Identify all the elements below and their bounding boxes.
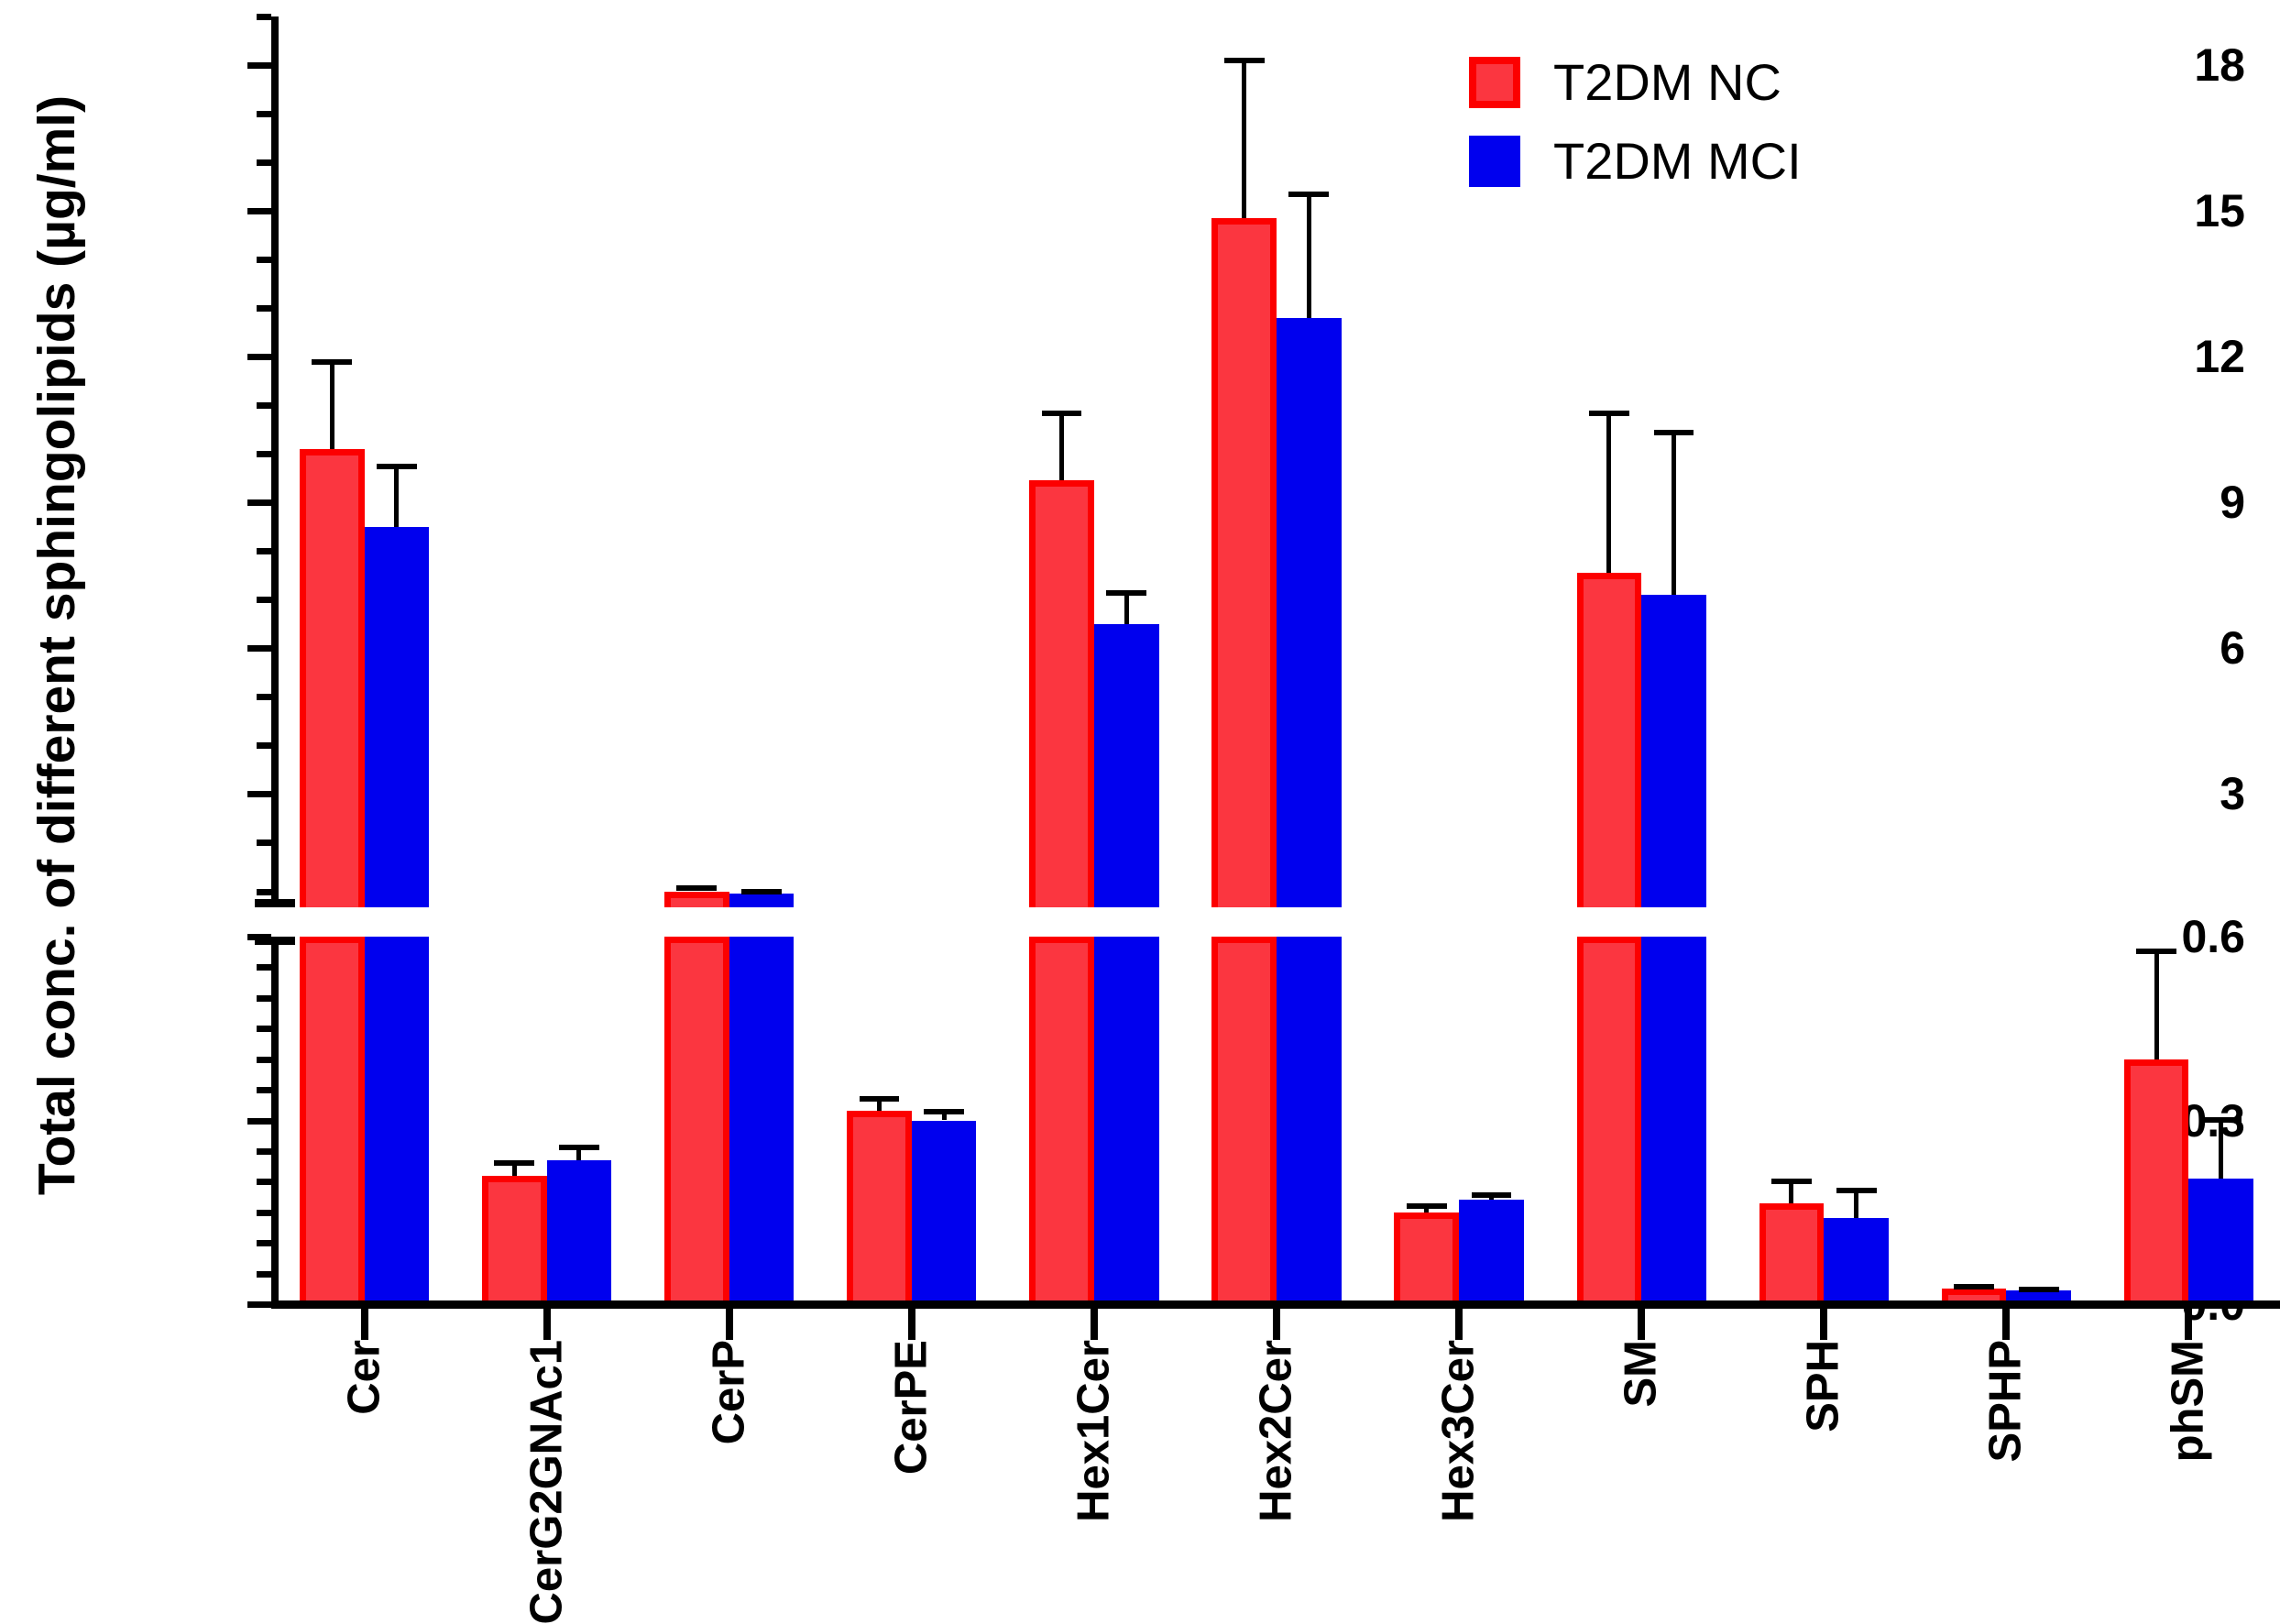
error-bar-stem: [1606, 411, 1611, 574]
error-bar-stem: [394, 464, 399, 527]
legend-swatch-red-square: [1469, 57, 1520, 108]
y-minor-tick: [257, 1087, 271, 1093]
bar-hex1cer-t2dm-nc[interactable]: [1029, 937, 1094, 1304]
error-bar-stem: [1242, 58, 1246, 218]
lower-axis-panel: 0.00.30.6: [271, 937, 2278, 1304]
bar-group-cer: [300, 937, 365, 1304]
error-bar-cap: [676, 885, 717, 891]
x-tick: [1638, 1309, 1645, 1340]
y-minor-tick: [257, 742, 271, 749]
y-minor-tick: [257, 1179, 271, 1185]
bar-hex1cer-t2dm-mci[interactable]: [1094, 624, 1159, 907]
bar-sm-t2dm-mci[interactable]: [1641, 937, 1706, 1304]
y-minor-tick: [257, 548, 271, 554]
bar-cerpe-t2dm-mci[interactable]: [912, 1121, 977, 1305]
x-axis-label-phsm: phSM: [2166, 1340, 2211, 1462]
bar-group-sm: [1577, 937, 1642, 1304]
bar-cerp-t2dm-mci[interactable]: [729, 937, 795, 1304]
bar-group-hex2cer: [1277, 937, 1342, 1304]
upper-y-axis-spine: [271, 16, 279, 907]
y-tick-label: 18: [2194, 42, 2245, 88]
bar-cerp-t2dm-mci[interactable]: [729, 894, 795, 907]
y-tick-label: 15: [2194, 188, 2245, 234]
y-minor-tick: [257, 1271, 271, 1278]
error-bar-cap: [312, 359, 352, 365]
error-bar-stem: [2219, 1117, 2223, 1179]
bar-group-hex1cer: [1094, 937, 1159, 1304]
y-minor-tick: [257, 1240, 271, 1246]
y-minor-tick: [257, 694, 271, 700]
bar-phsm-t2dm-nc[interactable]: [2124, 1059, 2189, 1304]
error-bar-cap: [924, 1109, 964, 1114]
axis-break-cap-upper: [255, 899, 295, 907]
error-bar-cap: [1106, 590, 1146, 596]
error-bar-cap: [1288, 192, 1329, 197]
upper-axis-panel: 369121518: [271, 16, 2278, 907]
error-bar-cap: [860, 1096, 900, 1102]
bar-group-hex3cer: [1394, 937, 1459, 1304]
y-tick-label: 12: [2194, 334, 2245, 379]
y-tick-label: 9: [2220, 479, 2245, 525]
y-minor-tick: [257, 451, 271, 457]
axis-break-cap-lower: [255, 937, 295, 945]
y-tick-label: 3: [2220, 771, 2245, 817]
bar-group-cer: [365, 937, 430, 1304]
y-axis-title: Total conc. of different sphingolipids (…: [27, 49, 86, 1241]
error-bar-cap: [1407, 1203, 1447, 1209]
legend-item-t2dm-mci[interactable]: T2DM MCI: [1469, 136, 1802, 187]
legend: T2DM NC T2DM MCI: [1469, 57, 1802, 214]
x-axis-spine: [271, 1300, 2280, 1309]
x-tick: [908, 1309, 915, 1340]
bar-group-cerp: [729, 937, 795, 1304]
bar-cer-t2dm-mci[interactable]: [365, 527, 430, 907]
bar-group-sph: [1824, 937, 1889, 1304]
y-minor-tick: [257, 995, 271, 1002]
y-minor-tick: [257, 159, 271, 166]
bar-group-cerg2gnac1: [482, 937, 547, 1304]
x-tick: [1091, 1309, 1098, 1340]
error-bar-cap: [741, 889, 782, 894]
bar-phsm-t2dm-mci[interactable]: [2188, 1179, 2253, 1304]
bar-hex3cer-t2dm-nc[interactable]: [1394, 1213, 1459, 1304]
bar-sph-t2dm-mci[interactable]: [1824, 1218, 1889, 1304]
y-minor-tick: [257, 597, 271, 603]
y-major-tick: [247, 645, 271, 652]
error-bar-stem: [330, 359, 334, 449]
bar-group-cerpe: [912, 937, 977, 1304]
x-axis-label-cerpe: CerPE: [889, 1340, 934, 1475]
bar-hex2cer-t2dm-nc[interactable]: [1211, 937, 1277, 1304]
y-major-tick: [247, 499, 271, 506]
bar-group-sphp: [1942, 937, 2007, 1304]
error-bar-stem: [2154, 949, 2159, 1059]
y-minor-tick: [257, 305, 271, 312]
y-minor-tick: [257, 889, 271, 895]
bar-group-cerp: [729, 16, 795, 907]
error-bar-cap: [2019, 1287, 2059, 1292]
x-axis-label-sphp: SPHP: [1984, 1340, 2029, 1462]
x-tick: [543, 1309, 551, 1340]
bar-hex1cer-t2dm-nc[interactable]: [1029, 480, 1094, 907]
legend-label: T2DM NC: [1553, 57, 1781, 108]
bar-cerp-t2dm-nc[interactable]: [664, 892, 729, 907]
bar-hex2cer-t2dm-nc[interactable]: [1211, 218, 1277, 907]
x-tick: [1820, 1309, 1827, 1340]
x-axis-label-hex2cer: Hex2Cer: [1255, 1340, 1299, 1522]
bar-group-phsm: [2124, 937, 2189, 1304]
y-minor-tick: [257, 1026, 271, 1032]
bar-group-cerp: [664, 16, 729, 907]
bar-group-hex1cer: [1094, 16, 1159, 907]
bar-group-hex1cer: [1029, 937, 1094, 1304]
bar-hex2cer-t2dm-mci[interactable]: [1277, 318, 1342, 907]
bar-group-sm: [1641, 937, 1706, 1304]
y-minor-tick: [257, 14, 271, 20]
x-tick: [2185, 1309, 2192, 1340]
legend-item-t2dm-nc[interactable]: T2DM NC: [1469, 57, 1802, 108]
bar-group-cerp: [664, 937, 729, 1304]
y-minor-tick: [257, 1210, 271, 1216]
bar-group-cer: [365, 16, 430, 907]
bar-cer-t2dm-nc[interactable]: [300, 449, 365, 907]
bar-group-phsm: [2188, 937, 2253, 1304]
y-major-tick: [247, 208, 271, 214]
x-tick: [2002, 1309, 2010, 1340]
legend-label: T2DM MCI: [1553, 136, 1802, 187]
y-minor-tick: [257, 964, 271, 971]
bar-group-hex2cer: [1211, 16, 1277, 907]
y-minor-tick: [257, 257, 271, 263]
error-bar-stem: [1672, 430, 1676, 595]
error-bar-cap: [1042, 411, 1082, 416]
y-minor-tick: [257, 402, 271, 409]
bar-cerpe-t2dm-nc[interactable]: [847, 1111, 912, 1304]
error-bar-stem: [1059, 411, 1064, 481]
error-bar-cap: [2136, 949, 2176, 954]
bar-group-cerpe: [847, 937, 912, 1304]
error-bar-cap: [1472, 1192, 1512, 1198]
legend-swatch-blue-square: [1469, 136, 1520, 187]
y-major-tick: [247, 1301, 271, 1308]
x-axis-label-sm: SM: [1619, 1340, 1664, 1408]
bar-sph-t2dm-nc[interactable]: [1759, 1203, 1825, 1304]
y-minor-tick: [257, 839, 271, 846]
bar-group-hex2cer: [1211, 937, 1277, 1304]
bar-group-hex1cer: [1029, 16, 1094, 907]
bar-group-sph: [1759, 937, 1825, 1304]
y-minor-tick: [257, 1148, 271, 1155]
x-axis-label-hex1cer: Hex1Cer: [1071, 1340, 1116, 1522]
x-tick: [1273, 1309, 1280, 1340]
y-major-tick: [247, 62, 271, 69]
x-axis-label-hex3cer: Hex3Cer: [1437, 1340, 1482, 1522]
x-tick: [726, 1309, 733, 1340]
y-major-tick: [247, 791, 271, 797]
error-bar-cap: [377, 464, 417, 469]
y-tick-label: 6: [2220, 625, 2245, 671]
x-axis-label-cerp: CerP: [707, 1340, 751, 1444]
y-minor-tick: [257, 1057, 271, 1063]
x-tick: [1455, 1309, 1463, 1340]
bar-group-sphp: [2006, 937, 2071, 1304]
error-bar-cap: [1771, 1179, 1812, 1184]
bar-cerg2gnac1-t2dm-nc[interactable]: [482, 1176, 547, 1304]
error-bar-cap: [1654, 430, 1694, 435]
bar-hex3cer-t2dm-mci[interactable]: [1459, 1200, 1524, 1304]
error-bar-cap: [1836, 1188, 1877, 1193]
x-tick: [361, 1309, 368, 1340]
lower-y-axis-spine: [271, 937, 279, 1304]
bar-group-hex3cer: [1459, 937, 1524, 1304]
bar-sm-t2dm-nc[interactable]: [1577, 573, 1642, 907]
bar-group-hex2cer: [1277, 16, 1342, 907]
error-bar-cap: [1224, 58, 1265, 63]
bar-cer-t2dm-nc[interactable]: [300, 937, 365, 1304]
error-bar-cap: [559, 1145, 599, 1150]
bar-sm-t2dm-mci[interactable]: [1641, 595, 1706, 907]
error-bar-cap: [2201, 1117, 2242, 1123]
bar-hex1cer-t2dm-mci[interactable]: [1094, 937, 1159, 1304]
error-bar-cap: [1954, 1284, 1994, 1289]
bar-group-cerg2gnac1: [547, 937, 612, 1304]
bar-cerp-t2dm-nc[interactable]: [664, 937, 729, 1304]
error-bar-cap: [1589, 411, 1629, 416]
bar-cer-t2dm-mci[interactable]: [365, 937, 430, 1304]
bar-cerg2gnac1-t2dm-mci[interactable]: [547, 1160, 612, 1304]
x-axis-label-cer: Cer: [342, 1340, 387, 1415]
y-major-tick: [247, 354, 271, 360]
error-bar-stem: [1307, 192, 1311, 318]
error-bar-cap: [494, 1160, 534, 1166]
y-minor-tick: [257, 111, 271, 117]
bar-sm-t2dm-nc[interactable]: [1577, 937, 1642, 1304]
x-axis-label-sph: SPH: [1802, 1340, 1847, 1432]
y-major-tick: [247, 1118, 271, 1125]
figure-canvas: Total conc. of different sphingolipids (…: [0, 0, 2291, 1582]
bar-group-cer: [300, 16, 365, 907]
bar-hex2cer-t2dm-mci[interactable]: [1277, 937, 1342, 1304]
